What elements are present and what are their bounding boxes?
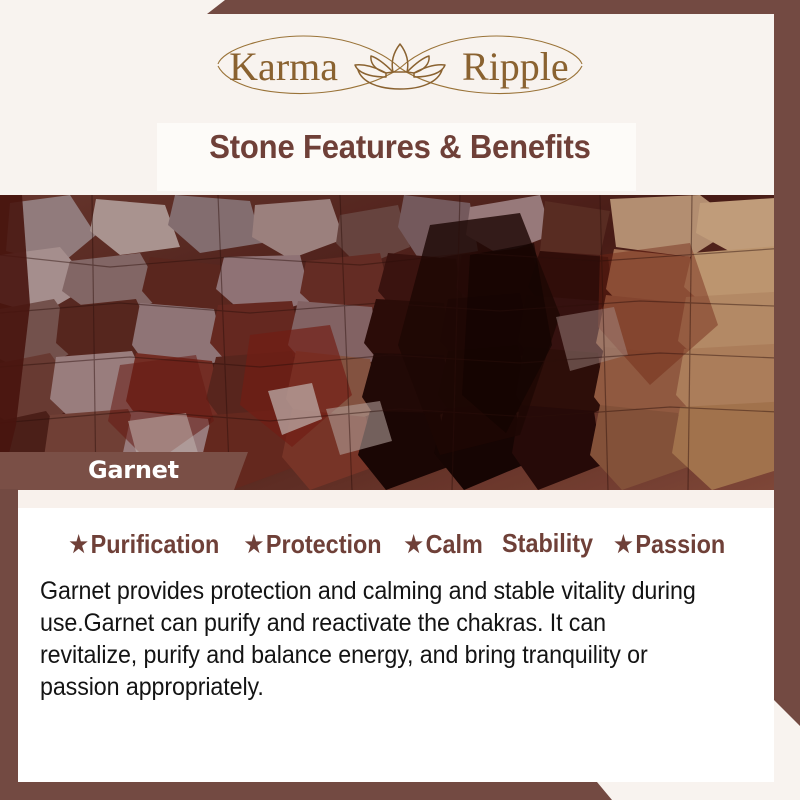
brand-logo: Karma Ripple (190, 22, 610, 104)
product-info-card: Karma Ripple Stone Features & Benefits (0, 0, 800, 800)
brand-header: Karma Ripple (0, 0, 800, 120)
brand-name-right-text: Ripple (462, 44, 569, 89)
content-sheet-top-wash (18, 490, 774, 508)
stone-photo (0, 195, 800, 490)
benefit-item: ★ Calm (404, 529, 482, 560)
brand-name-left-text: Karma (229, 44, 338, 89)
frame-bottom-accent (0, 782, 800, 800)
benefit-item: ★ Purification (69, 529, 219, 560)
benefit-item: ★ Passion (614, 529, 725, 560)
star-icon: ★ (614, 533, 633, 556)
star-icon: ★ (245, 533, 264, 556)
benefit-label: Passion (635, 529, 725, 560)
frame-left-accent (0, 489, 18, 800)
page-title: Stone Features & Benefits (24, 128, 776, 166)
star-icon: ★ (69, 533, 88, 556)
star-icon: ★ (404, 533, 423, 556)
benefits-list: ★ Purification ★ Protection ★ Calm Stabi… (18, 528, 774, 560)
benefit-label: Protection (266, 529, 382, 560)
benefit-label: Calm (425, 529, 482, 560)
frame-right-accent (774, 0, 800, 726)
stone-name-label: Garnet (88, 456, 179, 484)
benefit-label: Stability (502, 528, 593, 559)
stone-description: Garnet provides protection and calming a… (40, 575, 706, 703)
benefit-item: Stability (502, 528, 593, 559)
benefit-label: Purification (90, 529, 219, 560)
benefit-item: ★ Protection (245, 529, 382, 560)
